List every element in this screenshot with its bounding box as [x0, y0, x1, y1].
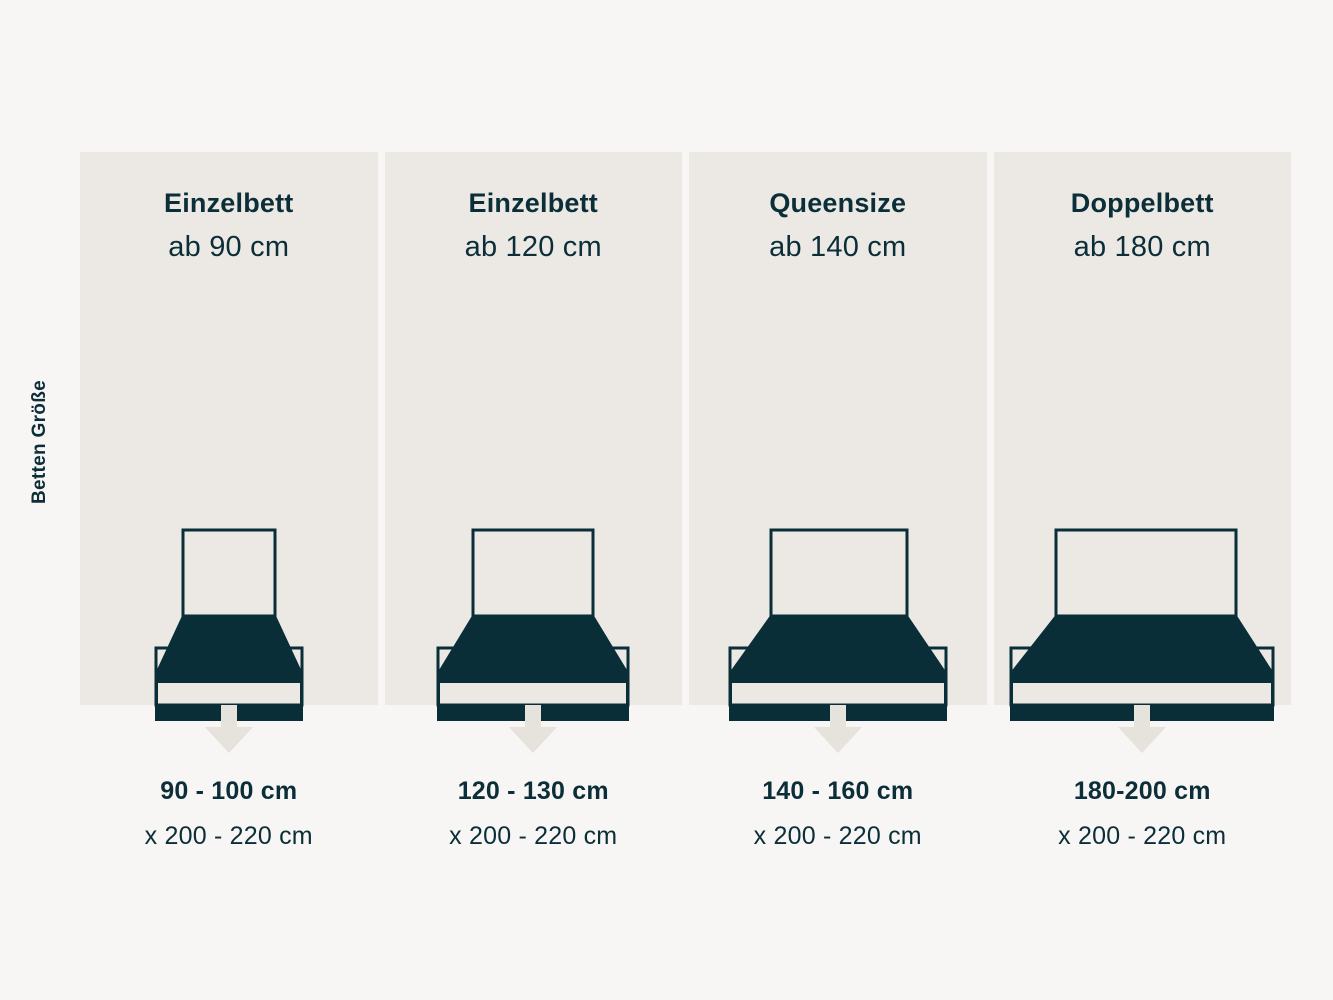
- column-heading: Einzelbett ab 90 cm: [164, 190, 294, 262]
- bed-size-column-1[interactable]: Einzelbett ab 90 cm: [80, 152, 378, 862]
- bed-illustration-2: [385, 524, 683, 704]
- bed-illustration-1: [80, 524, 378, 704]
- y-axis-label-text: Betten Größe: [29, 380, 51, 504]
- arrow-down-icon: [810, 705, 866, 755]
- bed-illustration-3: [689, 524, 987, 704]
- arrow-down-icon: [1114, 705, 1170, 755]
- down-arrow-4: [1114, 705, 1170, 755]
- bed-width-range: 140 - 160 cm: [689, 777, 987, 806]
- down-arrow-3: [810, 705, 866, 755]
- column-heading: Doppelbett ab 180 cm: [1071, 190, 1214, 262]
- arrow-down-icon: [505, 705, 561, 755]
- down-arrow-2: [505, 705, 561, 755]
- bed-type-label: Einzelbett: [465, 190, 602, 217]
- bed-icon: [1008, 528, 1276, 704]
- column-heading: Queensize ab 140 cm: [769, 190, 906, 262]
- bed-width-range: 120 - 130 cm: [385, 777, 683, 806]
- bed-icon: [153, 528, 305, 704]
- y-axis-label: Betten Größe: [0, 332, 80, 552]
- bed-size-label: ab 120 cm: [465, 233, 602, 262]
- arrow-down-icon: [201, 705, 257, 755]
- bed-dimensions-3: 140 - 160 cm x 200 - 220 cm: [689, 777, 987, 851]
- bed-size-label: ab 90 cm: [164, 233, 294, 262]
- bed-type-label: Einzelbett: [164, 190, 294, 217]
- bed-length-range: x 200 - 220 cm: [689, 822, 987, 851]
- bed-dimensions-1: 90 - 100 cm x 200 - 220 cm: [80, 777, 378, 851]
- bed-size-column-2[interactable]: Einzelbett ab 120 cm 120 - 130 cm x 200 …: [385, 152, 683, 862]
- bed-size-label: ab 140 cm: [769, 233, 906, 262]
- bed-type-label: Doppelbett: [1071, 190, 1214, 217]
- bed-length-range: x 200 - 220 cm: [994, 822, 1292, 851]
- down-arrow-1: [201, 705, 257, 755]
- bed-width-range: 180-200 cm: [994, 777, 1292, 806]
- bed-size-column-4[interactable]: Doppelbett ab 180 cm 180-200 cm x 200 - …: [994, 152, 1292, 862]
- bed-size-column-3[interactable]: Queensize ab 140 cm 140 - 160 cm x 200 -…: [689, 152, 987, 862]
- bed-dimensions-4: 180-200 cm x 200 - 220 cm: [994, 777, 1292, 851]
- bed-width-range: 90 - 100 cm: [80, 777, 378, 806]
- bed-dimensions-2: 120 - 130 cm x 200 - 220 cm: [385, 777, 683, 851]
- bed-size-comparison-chart: Einzelbett ab 90 cm: [80, 152, 1291, 862]
- bed-size-label: ab 180 cm: [1071, 233, 1214, 262]
- bed-icon: [435, 528, 631, 704]
- bed-length-range: x 200 - 220 cm: [80, 822, 378, 851]
- bed-icon: [727, 528, 949, 704]
- column-heading: Einzelbett ab 120 cm: [465, 190, 602, 262]
- bed-type-label: Queensize: [769, 190, 906, 217]
- bed-length-range: x 200 - 220 cm: [385, 822, 683, 851]
- bed-illustration-4: [994, 524, 1292, 704]
